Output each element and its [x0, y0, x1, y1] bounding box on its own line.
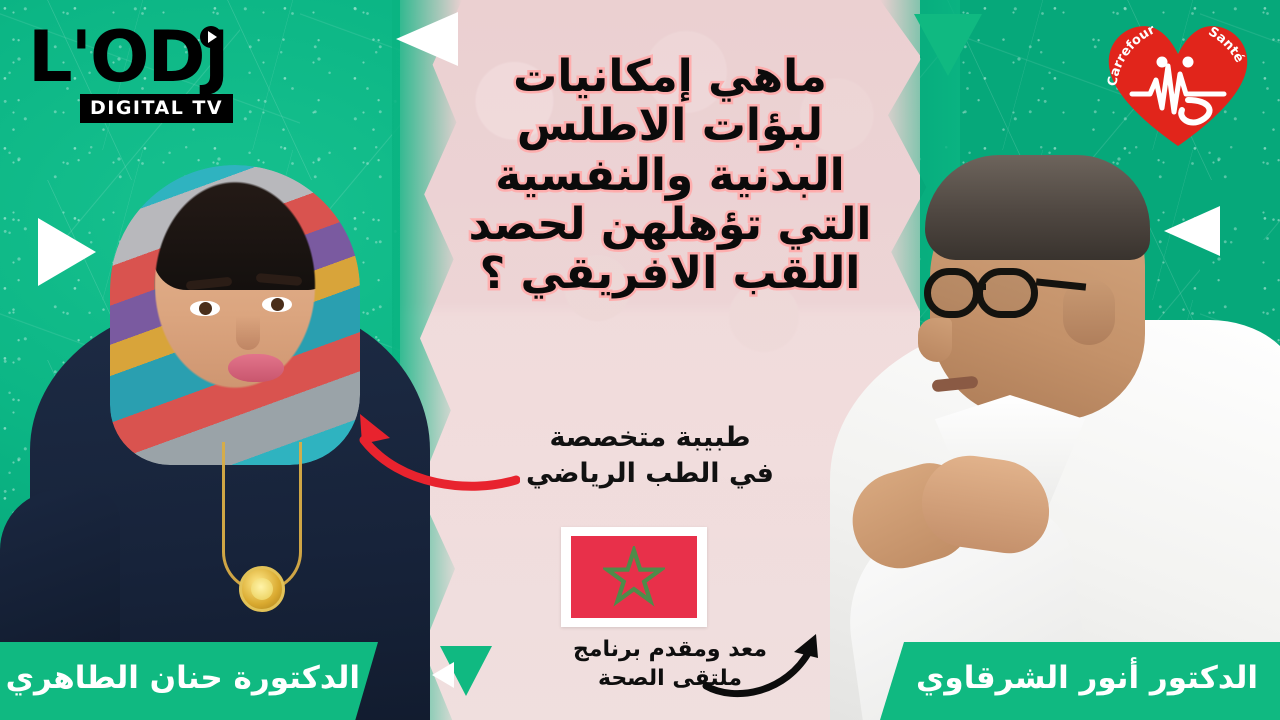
curved-arrow-up-right-icon: [700, 628, 830, 698]
curved-arrow-up-left-icon: [330, 398, 520, 498]
guest-subtitle: طبيبة متخصصة في الطب الرياضي: [470, 420, 830, 491]
guest-name-right: الدكتور أنور الشرقاوي: [916, 660, 1258, 696]
necklace-pendant: [239, 566, 285, 612]
title-line-3: البدنية والنفسية: [430, 151, 910, 200]
carrefour-sante-logo: Carrefour Santé: [1098, 8, 1258, 153]
headscarf: [110, 165, 360, 465]
pentagram-star-icon: [603, 546, 665, 608]
subtitle-line-2: في الطب الرياضي: [470, 456, 830, 492]
lodj-wordmark: L'ODJ: [28, 16, 228, 98]
title-line-5: اللقب الافريقي ؟: [430, 249, 910, 298]
name-banner-right: الدكتور أنور الشرقاوي: [880, 642, 1280, 720]
name-banner-left: الدكتورة حنان الطاهري: [0, 642, 378, 720]
title-line-1: ماهي إمكانيات: [430, 52, 910, 101]
guest-name-left: الدكتورة حنان الطاهري: [6, 660, 360, 696]
title-line-4: التي تؤهلهن لحصد: [430, 200, 910, 249]
title-line-2: لبؤات الاطلس: [430, 101, 910, 150]
play-dot-icon: [200, 26, 222, 48]
triangle-down-icon-top: [914, 14, 982, 76]
video-title: ماهي إمكانيات لبؤات الاطلس البدنية والنف…: [430, 52, 910, 298]
subtitle-line-1: طبيبة متخصصة: [470, 420, 830, 456]
morocco-flag: [561, 527, 707, 627]
eyeglasses: [924, 268, 1042, 322]
lodj-logo: L'ODJ DIGITAL TV: [28, 24, 233, 123]
thumbnail-canvas: L'ODJ DIGITAL TV Carrefour Santé ماهي إ: [0, 0, 1280, 720]
